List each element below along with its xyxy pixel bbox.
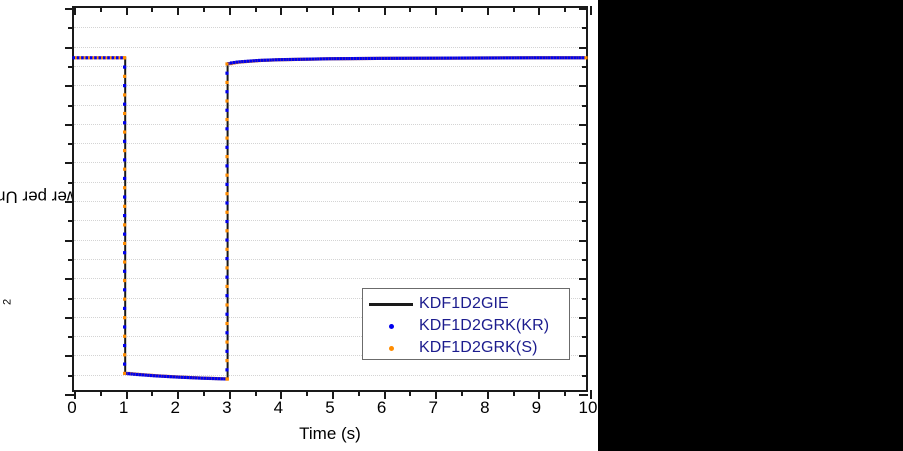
y-tick-mark <box>68 375 74 377</box>
marker-s <box>123 316 126 319</box>
y-tick-mark <box>65 124 74 126</box>
marker-s <box>123 93 126 96</box>
marker-s <box>123 168 126 171</box>
marker-kr <box>123 84 126 87</box>
x-tick-mark <box>384 6 386 15</box>
x-tick-label: 0 <box>67 398 76 418</box>
marker-kr <box>225 331 228 334</box>
marker-kr <box>225 276 228 279</box>
x-tick-mark <box>100 6 102 12</box>
y-tick-mark <box>582 143 588 145</box>
y-tick-mark <box>68 66 74 68</box>
marker-s <box>123 279 126 282</box>
marker-kr <box>225 164 228 167</box>
marker-s <box>225 266 228 269</box>
legend-label-0: KDF1D2GIE <box>419 295 509 313</box>
marker-s <box>225 118 228 121</box>
y-tick-mark <box>582 105 588 107</box>
marker-kr <box>123 158 126 161</box>
x-tick-mark <box>409 6 411 12</box>
y-tick-mark <box>579 8 588 10</box>
x-tick-mark <box>177 6 179 15</box>
x-tick-mark <box>255 6 257 12</box>
marker-s <box>225 340 228 343</box>
x-tick-mark <box>564 390 566 396</box>
marker-kr <box>123 270 126 273</box>
y-tick-mark <box>579 124 588 126</box>
x-tick-mark <box>280 6 282 15</box>
marker-kr <box>123 65 126 68</box>
y-tick-mark <box>582 220 588 222</box>
y-tick-mark <box>65 47 74 49</box>
marker-kr <box>123 288 126 291</box>
x-tick-mark <box>74 6 76 15</box>
y-tick-mark <box>68 298 74 300</box>
x-tick-mark <box>151 6 153 12</box>
y-tick-mark <box>582 66 588 68</box>
legend-item-line: KDF1D2GIE <box>363 293 569 315</box>
x-tick-mark <box>358 390 360 396</box>
y-tick-mark <box>579 201 588 203</box>
marker-s <box>584 56 587 59</box>
x-tick-mark <box>203 390 205 396</box>
legend-label-2: KDF1D2GRK(S) <box>419 339 538 357</box>
legend-label-1: KDF1D2GRK(KR) <box>419 317 549 335</box>
y-tick-mark <box>68 336 74 338</box>
marker-s <box>225 229 228 232</box>
marker-kr <box>225 109 228 112</box>
x-tick-mark <box>590 6 592 15</box>
x-tick-label: 4 <box>274 398 283 418</box>
x-tick-mark <box>358 6 360 12</box>
legend-dot-swatch-orange <box>363 346 419 351</box>
y-tick-mark <box>579 85 588 87</box>
y-tick-mark <box>68 105 74 107</box>
marker-kr <box>225 294 228 297</box>
y-tick-mark <box>579 240 588 242</box>
y-tick-mark <box>65 355 74 357</box>
marker-kr <box>225 72 228 75</box>
y-tick-mark <box>68 27 74 29</box>
marker-kr <box>225 257 228 260</box>
x-tick-mark <box>538 6 540 15</box>
y-tick-mark <box>68 143 74 145</box>
y-tick-mark <box>65 394 74 396</box>
marker-s <box>123 353 126 356</box>
marker-kr <box>123 363 126 366</box>
y-tick-mark <box>65 317 74 319</box>
marker-s <box>225 303 228 306</box>
marker-kr <box>123 177 126 180</box>
x-tick-label: 5 <box>325 398 334 418</box>
x-tick-mark <box>100 390 102 396</box>
marker-kr <box>123 140 126 143</box>
x-axis-label: Time (s) <box>72 424 588 444</box>
y-tick-mark <box>579 47 588 49</box>
x-tick-mark <box>306 6 308 12</box>
marker-s <box>123 75 126 78</box>
black-filler-band <box>598 0 903 451</box>
marker-kr <box>123 251 126 254</box>
x-tick-mark <box>435 6 437 15</box>
y-tick-mark <box>65 162 74 164</box>
marker-s <box>225 155 228 158</box>
x-tick-label: 1 <box>119 398 128 418</box>
x-tick-label: 7 <box>428 398 437 418</box>
chart-screenshot: Power per Unit Area (KW/cm2) Time (s) KD… <box>0 0 903 451</box>
x-tick-mark <box>332 6 334 15</box>
marker-kr <box>123 195 126 198</box>
x-tick-label: 9 <box>532 398 541 418</box>
marker-kr <box>225 183 228 186</box>
marker-s <box>225 62 228 65</box>
legend: KDF1D2GIE KDF1D2GRK(KR) KDF1D2GRK(S) <box>362 288 570 360</box>
y-tick-mark <box>68 259 74 261</box>
marker-kr <box>225 238 228 241</box>
x-tick-label: 6 <box>377 398 386 418</box>
marker-kr <box>225 146 228 149</box>
marker-s <box>225 211 228 214</box>
marker-kr <box>225 90 228 93</box>
marker-s <box>225 285 228 288</box>
x-tick-mark <box>203 6 205 12</box>
legend-item-kr: KDF1D2GRK(KR) <box>363 315 569 337</box>
legend-item-s: KDF1D2GRK(S) <box>363 337 569 359</box>
y-axis-label-superscript: 2 <box>2 299 14 305</box>
y-tick-mark <box>582 375 588 377</box>
x-tick-mark <box>461 390 463 396</box>
y-tick-mark <box>582 259 588 261</box>
x-tick-mark <box>255 390 257 396</box>
marker-kr <box>225 127 228 130</box>
marker-s <box>123 186 126 189</box>
marker-s <box>123 298 126 301</box>
marker-s <box>123 130 126 133</box>
marker-s <box>225 192 228 195</box>
marker-kr <box>225 313 228 316</box>
marker-kr <box>225 220 228 223</box>
marker-kr <box>123 214 126 217</box>
marker-s <box>225 248 228 251</box>
marker-s <box>123 56 126 59</box>
x-tick-label: 10 <box>579 398 598 418</box>
marker-kr <box>123 103 126 106</box>
y-axis-label: Power per Unit Area (KW/cm2) <box>0 0 26 392</box>
x-tick-mark <box>306 390 308 396</box>
marker-s <box>123 372 126 375</box>
y-tick-mark <box>65 85 74 87</box>
x-tick-mark <box>513 6 515 12</box>
y-tick-mark <box>579 394 588 396</box>
marker-kr <box>123 233 126 236</box>
marker-s <box>123 112 126 115</box>
legend-line-swatch <box>363 303 419 306</box>
y-tick-mark <box>65 240 74 242</box>
x-tick-mark <box>151 390 153 396</box>
x-tick-mark <box>126 6 128 15</box>
y-tick-mark <box>582 336 588 338</box>
y-tick-mark <box>65 278 74 280</box>
y-tick-mark <box>68 220 74 222</box>
marker-s <box>123 205 126 208</box>
x-tick-mark <box>409 390 411 396</box>
marker-kr <box>123 121 126 124</box>
marker-s <box>123 223 126 226</box>
y-tick-mark <box>582 182 588 184</box>
marker-s <box>123 335 126 338</box>
marker-kr <box>123 344 126 347</box>
figure-panel: Power per Unit Area (KW/cm2) Time (s) KD… <box>0 0 598 451</box>
y-tick-mark <box>65 201 74 203</box>
marker-s <box>225 174 228 177</box>
x-tick-mark <box>461 6 463 12</box>
x-tick-mark <box>229 6 231 15</box>
x-tick-label: 8 <box>480 398 489 418</box>
legend-dot-swatch-blue <box>363 324 419 329</box>
marker-s <box>225 81 228 84</box>
marker-kr <box>225 350 228 353</box>
x-tick-label: 3 <box>222 398 231 418</box>
marker-s <box>123 149 126 152</box>
y-tick-mark <box>68 182 74 184</box>
marker-s <box>225 378 228 381</box>
y-tick-mark <box>579 278 588 280</box>
marker-s <box>225 136 228 139</box>
y-tick-mark <box>579 162 588 164</box>
marker-s <box>123 260 126 263</box>
marker-s <box>225 322 228 325</box>
x-tick-label: 2 <box>170 398 179 418</box>
marker-kr <box>225 368 228 371</box>
x-tick-mark <box>564 6 566 12</box>
y-tick-mark <box>65 8 74 10</box>
y-tick-mark <box>582 27 588 29</box>
marker-s <box>225 99 228 102</box>
x-tick-mark <box>513 390 515 396</box>
y-tick-mark <box>579 317 588 319</box>
y-tick-mark <box>579 355 588 357</box>
marker-s <box>225 359 228 362</box>
marker-kr <box>123 307 126 310</box>
y-tick-mark <box>582 298 588 300</box>
x-tick-mark <box>487 6 489 15</box>
marker-kr <box>225 201 228 204</box>
marker-s <box>123 242 126 245</box>
marker-kr <box>123 325 126 328</box>
